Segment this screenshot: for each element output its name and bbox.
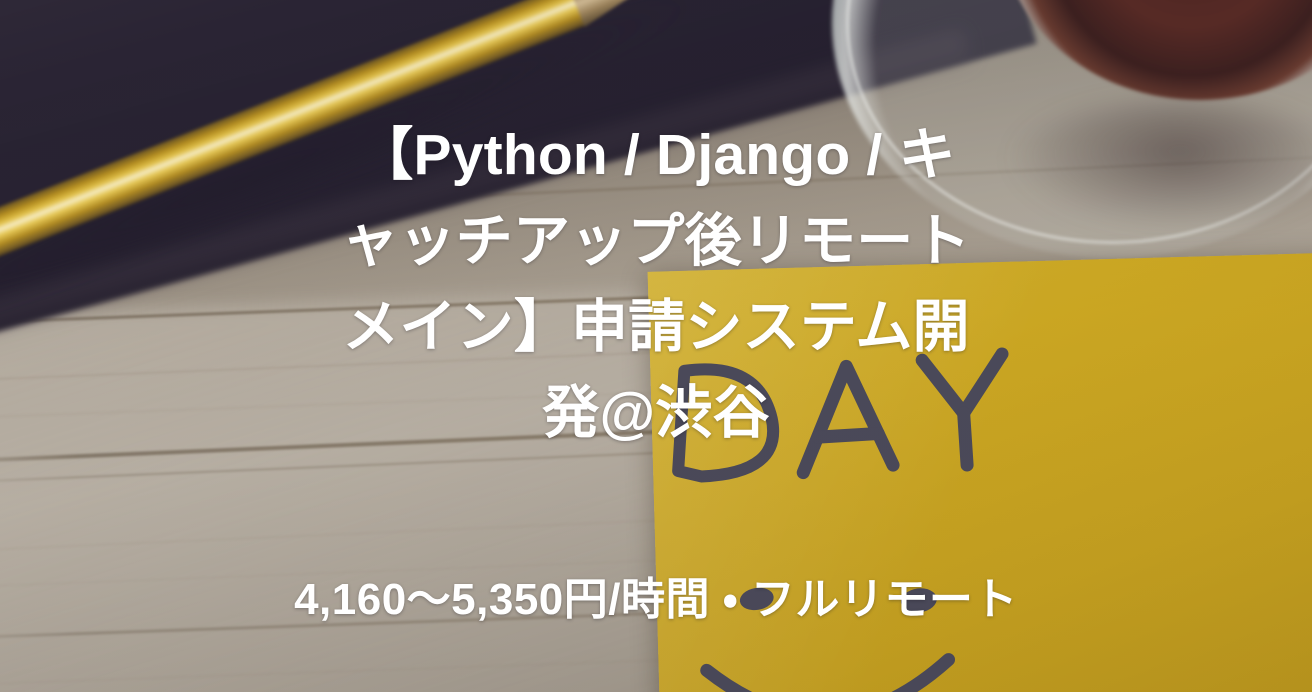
page-title: 【Python / Django / キャッチアップ後リモートメイン】申請システ… <box>151 112 1161 456</box>
job-posting-banner: 【Python / Django / キャッチアップ後リモートメイン】申請システ… <box>0 0 1312 692</box>
banner-content: 【Python / Django / キャッチアップ後リモートメイン】申請システ… <box>0 0 1312 692</box>
rate-and-workstyle-subtitle: 4,160〜5,350円/時間 ・ フルリモート <box>234 574 1078 627</box>
